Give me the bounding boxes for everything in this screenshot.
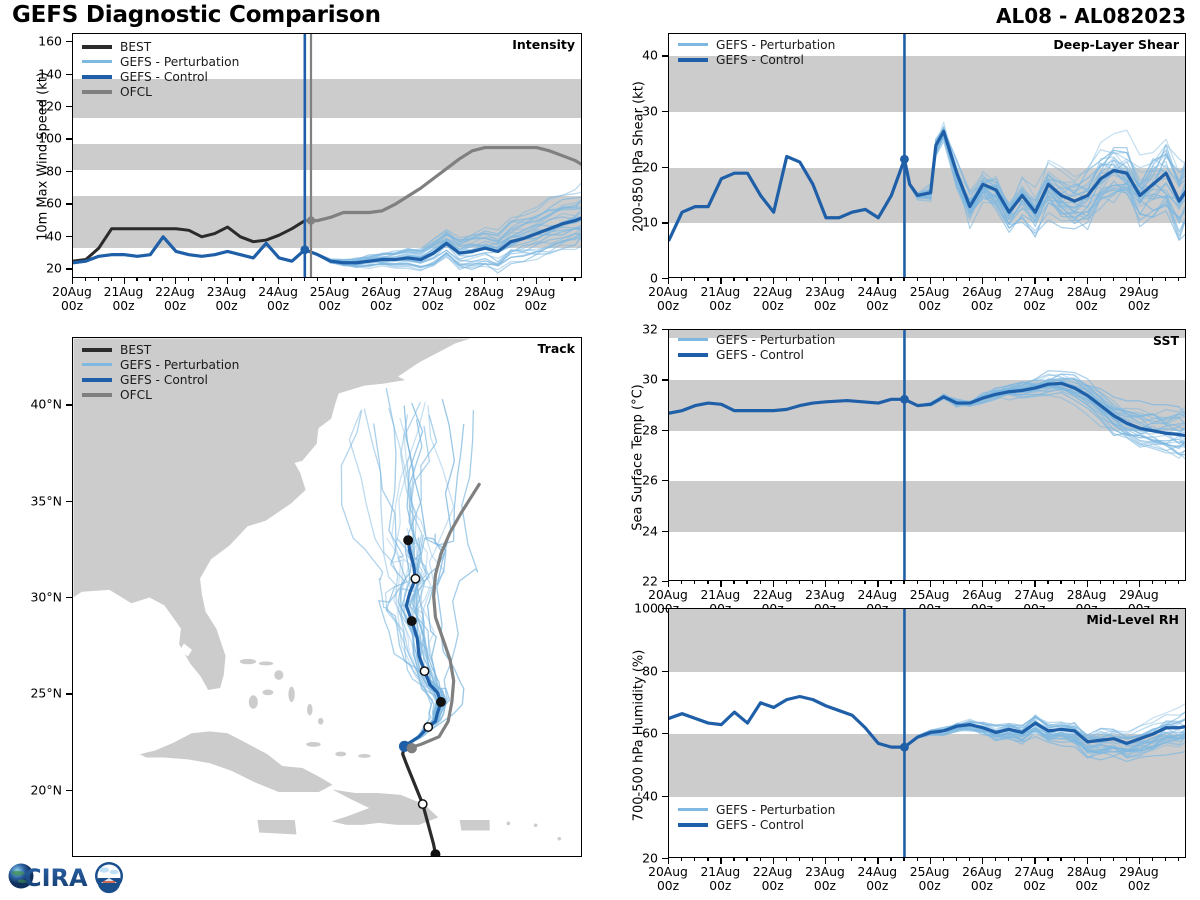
y-tick-mark (66, 106, 73, 107)
x-tick-minor (1008, 857, 1009, 861)
x-tick-minor (746, 580, 747, 584)
x-tick-mark (381, 277, 382, 284)
x-tick-minor (694, 277, 695, 281)
x-tick-mark (484, 277, 485, 284)
x-tick-minor (760, 580, 761, 584)
track-marker-open (424, 723, 432, 731)
x-tick-minor (1074, 277, 1075, 281)
ofcl-init-marker (307, 216, 315, 224)
x-tick-label: 29Aug00z (1119, 866, 1159, 894)
lat-tick-mark (66, 501, 73, 502)
track-title: Track (538, 341, 575, 356)
x-tick-minor (342, 277, 343, 281)
y-tick-mark (662, 531, 669, 532)
page-title: GEFS Diagnostic Comparison (12, 2, 381, 28)
x-tick-label: 20Aug00z (52, 286, 92, 314)
x-tick-minor (890, 580, 891, 584)
x-tick-minor (136, 277, 137, 281)
x-tick-minor (943, 857, 944, 861)
x-tick-minor (917, 857, 918, 861)
x-tick-minor (1126, 580, 1127, 584)
x-tick-minor (1165, 580, 1166, 584)
y-tick-label: 80 (606, 663, 658, 678)
y-tick-label: 40 (10, 228, 62, 243)
y-tick-label: 10 (606, 215, 658, 230)
x-tick-minor (1008, 580, 1009, 584)
x-tick-mark (1087, 857, 1088, 864)
x-tick-minor (864, 857, 865, 861)
x-tick-mark (930, 857, 931, 864)
storm-identifier: AL08 - AL082023 (996, 4, 1186, 28)
x-tick-minor (1100, 857, 1101, 861)
x-tick-minor (291, 277, 292, 281)
x-tick-minor (1178, 580, 1179, 584)
x-tick-minor (188, 277, 189, 281)
x-tick-minor (1178, 857, 1179, 861)
x-tick-label: 24Aug00z (857, 866, 897, 894)
y-tick-label: 40 (606, 788, 658, 803)
x-tick-mark (668, 857, 669, 864)
y-tick-label: 100 (606, 601, 658, 616)
y-tick-mark (662, 671, 669, 672)
x-tick-minor (799, 277, 800, 281)
y-tick-label: 20 (10, 261, 62, 276)
legend-label-best: BEST (120, 40, 151, 54)
x-tick-label: 25Aug00z (910, 866, 950, 894)
shear-plot-area (668, 33, 1186, 278)
x-tick-mark (720, 580, 721, 587)
figure-root: GEFS Diagnostic Comparison AL08 - AL0820… (0, 0, 1200, 900)
rh-legend: GEFS - Perturbation GEFS - Control (678, 802, 835, 832)
x-tick-label: 20Aug00z (648, 866, 688, 894)
x-tick-minor (368, 277, 369, 281)
x-tick-label: 26Aug00z (962, 286, 1002, 314)
x-tick-minor (1178, 277, 1179, 281)
y-tick-label: 120 (10, 99, 62, 114)
x-tick-minor (1008, 277, 1009, 281)
x-tick-minor (85, 277, 86, 281)
x-tick-minor (214, 277, 215, 281)
x-tick-minor (239, 277, 240, 281)
x-tick-minor (1074, 857, 1075, 861)
x-tick-minor (394, 277, 395, 281)
x-tick-minor (956, 857, 957, 861)
track-marker-open (411, 575, 419, 583)
x-tick-minor (98, 277, 99, 281)
x-tick-minor (746, 277, 747, 281)
x-tick-mark (773, 857, 774, 864)
x-tick-minor (201, 277, 202, 281)
x-tick-minor (1047, 580, 1048, 584)
y-tick-label: 30 (606, 103, 658, 118)
lat-tick-label: 20°N (10, 782, 62, 797)
y-tick-mark (662, 796, 669, 797)
x-tick-label: 21Aug00z (700, 286, 740, 314)
init-marker (900, 155, 909, 164)
x-tick-mark (930, 580, 931, 587)
x-tick-minor (799, 580, 800, 584)
x-tick-minor (786, 277, 787, 281)
legend-swatch-perturbation (678, 808, 708, 812)
lat-tick-mark (66, 790, 73, 791)
x-tick-minor (838, 857, 839, 861)
x-tick-mark (825, 277, 826, 284)
x-tick-minor (917, 580, 918, 584)
x-tick-minor (890, 277, 891, 281)
rh-title: Mid-Level RH (1086, 612, 1179, 627)
legend-swatch-best (82, 45, 112, 49)
x-tick-label: 22Aug00z (753, 286, 793, 314)
x-tick-label: 26Aug00z (962, 866, 1002, 894)
panel-intensity: Intensity BEST GEFS - Perturbation GEFS … (72, 33, 582, 278)
x-tick-minor (890, 857, 891, 861)
legend-label-control: GEFS - Control (716, 348, 804, 362)
x-tick-minor (1126, 277, 1127, 281)
x-tick-minor (903, 277, 904, 281)
x-tick-label: 21Aug00z (700, 866, 740, 894)
x-tick-minor (561, 277, 562, 281)
track-marker-filled (404, 536, 412, 544)
x-tick-minor (1126, 857, 1127, 861)
x-tick-minor (943, 580, 944, 584)
x-tick-minor (786, 857, 787, 861)
track-marker-filled (408, 617, 416, 625)
x-tick-minor (1152, 580, 1153, 584)
x-tick-mark (72, 277, 73, 284)
track-legend: BEST GEFS - Perturbation GEFS - Control … (82, 342, 239, 402)
x-tick-minor (838, 580, 839, 584)
best-track (403, 746, 436, 854)
x-tick-minor (956, 580, 957, 584)
x-tick-minor (681, 277, 682, 281)
sst-legend: GEFS - Perturbation GEFS - Control (678, 332, 835, 362)
x-tick-mark (825, 580, 826, 587)
x-tick-minor (681, 580, 682, 584)
x-tick-mark (1087, 580, 1088, 587)
y-tick-label: 28 (606, 422, 658, 437)
perturbation-track (349, 411, 438, 746)
y-tick-label: 140 (10, 66, 62, 81)
x-tick-minor (149, 277, 150, 281)
x-tick-minor (549, 277, 550, 281)
x-tick-label: 23Aug00z (207, 286, 247, 314)
y-tick-mark (662, 480, 669, 481)
track-marker-filled (437, 698, 445, 706)
x-tick-minor (812, 857, 813, 861)
x-tick-minor (681, 857, 682, 861)
legend-swatch-perturbation (678, 338, 708, 342)
x-tick-minor (1021, 580, 1022, 584)
lat-tick-label: 25°N (10, 686, 62, 701)
y-tick-mark (662, 329, 669, 330)
x-tick-minor (574, 277, 575, 281)
y-tick-label: 100 (10, 131, 62, 146)
x-tick-label: 27Aug00z (413, 286, 453, 314)
x-tick-minor (510, 277, 511, 281)
y-tick-mark (662, 733, 669, 734)
legend-swatch-ofcl (82, 90, 112, 94)
x-tick-label: 29Aug00z (516, 286, 556, 314)
y-tick-label: 24 (606, 523, 658, 538)
x-tick-minor (995, 857, 996, 861)
y-tick-mark (662, 608, 669, 609)
x-tick-minor (1047, 277, 1048, 281)
x-tick-minor (1021, 277, 1022, 281)
x-tick-minor (1060, 277, 1061, 281)
y-tick-mark (66, 236, 73, 237)
panel-shear: Deep-Layer Shear GEFS - Perturbation GEF… (668, 33, 1186, 278)
legend-swatch-control (678, 353, 708, 357)
panel-rh: Mid-Level RH GEFS - Perturbation GEFS - … (668, 608, 1186, 858)
x-tick-minor (969, 277, 970, 281)
x-tick-mark (982, 580, 983, 587)
x-tick-minor (733, 277, 734, 281)
x-tick-minor (956, 277, 957, 281)
y-tick-label: 20 (606, 159, 658, 174)
y-tick-label: 0 (606, 271, 658, 286)
y-tick-mark (662, 379, 669, 380)
lat-tick-label: 35°N (10, 493, 62, 508)
sst-series (669, 330, 1186, 581)
y-tick-label: 160 (10, 34, 62, 49)
x-tick-minor (1152, 857, 1153, 861)
series-ofcl (307, 148, 582, 221)
x-tick-mark (175, 277, 176, 284)
legend-label-control: GEFS - Control (716, 818, 804, 832)
x-tick-label: 27Aug00z (1014, 866, 1054, 894)
x-tick-minor (1165, 857, 1166, 861)
legend-swatch-ofcl (82, 393, 112, 397)
lat-tick-mark (66, 597, 73, 598)
x-tick-minor (471, 277, 472, 281)
x-tick-label: 22Aug00z (155, 286, 195, 314)
legend-label-control: GEFS - Control (120, 373, 208, 387)
x-tick-minor (407, 277, 408, 281)
y-tick-mark (66, 138, 73, 139)
legend-swatch-perturbation (82, 363, 112, 367)
x-tick-minor (943, 277, 944, 281)
track-plot-area (72, 337, 582, 857)
x-tick-minor (851, 277, 852, 281)
x-tick-mark (668, 277, 669, 284)
x-tick-minor (969, 580, 970, 584)
x-tick-minor (903, 580, 904, 584)
legend-label-perturbation: GEFS - Perturbation (120, 358, 239, 372)
x-tick-label: 29Aug00z (1119, 286, 1159, 314)
lat-tick-label: 30°N (10, 590, 62, 605)
lat-tick-label: 40°N (10, 397, 62, 412)
x-tick-mark (433, 277, 434, 284)
x-tick-minor (317, 277, 318, 281)
lat-tick-mark (66, 693, 73, 694)
x-tick-minor (812, 277, 813, 281)
init-marker (900, 743, 909, 752)
x-tick-mark (536, 277, 537, 284)
x-tick-label: 28Aug00z (1067, 286, 1107, 314)
x-tick-minor (707, 277, 708, 281)
best-track-marker (431, 850, 439, 857)
y-tick-label: 30 (606, 372, 658, 387)
x-tick-minor (252, 277, 253, 281)
svg-text:CIRA: CIRA (24, 864, 88, 892)
intensity-legend: BEST GEFS - Perturbation GEFS - Control … (82, 39, 239, 99)
x-tick-minor (1113, 857, 1114, 861)
sst-plot-area (668, 329, 1186, 581)
legend-swatch-control (82, 378, 112, 382)
panel-sst: SST GEFS - Perturbation GEFS - Control (668, 329, 1186, 581)
series-gefs-control (669, 697, 1186, 748)
x-tick-label: 24Aug00z (857, 286, 897, 314)
x-tick-mark (877, 857, 878, 864)
x-tick-minor (1060, 580, 1061, 584)
legend-label-ofcl: OFCL (120, 85, 152, 99)
x-tick-minor (1074, 580, 1075, 584)
x-tick-label: 21Aug00z (104, 286, 144, 314)
x-tick-minor (864, 277, 865, 281)
x-tick-label: 26Aug00z (361, 286, 401, 314)
x-tick-minor (304, 277, 305, 281)
x-tick-mark (720, 277, 721, 284)
track-marker-open (420, 667, 428, 675)
x-tick-mark (773, 580, 774, 587)
x-tick-minor (1047, 857, 1048, 861)
legend-swatch-perturbation (678, 43, 708, 47)
y-tick-label: 60 (10, 196, 62, 211)
y-tick-mark (66, 203, 73, 204)
legend-label-control: GEFS - Control (716, 53, 804, 67)
x-tick-minor (903, 857, 904, 861)
cira-logo: CIRA (6, 856, 126, 896)
x-tick-minor (760, 277, 761, 281)
x-tick-minor (799, 857, 800, 861)
legend-label-ofcl: OFCL (120, 388, 152, 402)
x-tick-label: 22Aug00z (753, 866, 793, 894)
x-tick-minor (786, 580, 787, 584)
x-tick-minor (864, 580, 865, 584)
x-tick-minor (995, 277, 996, 281)
x-tick-minor (917, 277, 918, 281)
x-tick-label: 23Aug00z (805, 286, 845, 314)
ofcl-init-marker (407, 743, 417, 753)
x-tick-minor (707, 857, 708, 861)
x-tick-minor (1060, 857, 1061, 861)
x-tick-minor (445, 277, 446, 281)
y-tick-mark (66, 171, 73, 172)
x-tick-minor (746, 857, 747, 861)
shear-ylabel: 200-850 hPa Shear (kt) (632, 47, 647, 267)
x-tick-minor (812, 580, 813, 584)
legend-label-control: GEFS - Control (120, 70, 208, 84)
legend-swatch-control (82, 75, 112, 79)
x-tick-mark (877, 580, 878, 587)
x-tick-mark (982, 857, 983, 864)
y-tick-mark (662, 55, 669, 56)
init-marker (900, 395, 909, 404)
x-tick-minor (851, 580, 852, 584)
legend-swatch-perturbation (82, 60, 112, 64)
y-tick-label: 60 (606, 726, 658, 741)
x-tick-mark (227, 277, 228, 284)
x-tick-mark (668, 580, 669, 587)
legend-label-perturbation: GEFS - Perturbation (120, 55, 239, 69)
y-tick-mark (662, 111, 669, 112)
x-tick-minor (733, 857, 734, 861)
shear-legend: GEFS - Perturbation GEFS - Control (678, 37, 835, 67)
x-tick-label: 27Aug00z (1014, 286, 1054, 314)
x-tick-mark (1087, 277, 1088, 284)
x-tick-minor (497, 277, 498, 281)
x-tick-minor (1113, 580, 1114, 584)
y-tick-label: 40 (606, 48, 658, 63)
y-tick-label: 26 (606, 473, 658, 488)
legend-label-perturbation: GEFS - Perturbation (716, 38, 835, 52)
y-tick-mark (662, 430, 669, 431)
x-tick-minor (265, 277, 266, 281)
legend-label-perturbation: GEFS - Perturbation (716, 803, 835, 817)
legend-swatch-control (678, 58, 708, 62)
x-tick-minor (162, 277, 163, 281)
x-tick-mark (720, 857, 721, 864)
x-tick-mark (1034, 277, 1035, 284)
x-tick-minor (1113, 277, 1114, 281)
shear-series (669, 34, 1186, 278)
x-tick-label: 28Aug00z (1067, 866, 1107, 894)
x-tick-mark (1139, 277, 1140, 284)
x-tick-mark (877, 277, 878, 284)
y-tick-label: 80 (10, 163, 62, 178)
x-tick-minor (694, 580, 695, 584)
y-tick-mark (662, 167, 669, 168)
x-tick-minor (838, 277, 839, 281)
x-tick-mark (982, 277, 983, 284)
x-tick-label: 20Aug00z (648, 286, 688, 314)
y-tick-mark (66, 268, 73, 269)
x-tick-minor (733, 580, 734, 584)
x-tick-minor (1152, 277, 1153, 281)
intensity-title: Intensity (512, 37, 575, 52)
lat-tick-mark (66, 404, 73, 405)
x-tick-minor (420, 277, 421, 281)
x-tick-minor (760, 857, 761, 861)
x-tick-mark (1034, 857, 1035, 864)
x-tick-minor (1100, 277, 1101, 281)
x-tick-mark (1139, 857, 1140, 864)
x-tick-minor (969, 857, 970, 861)
panel-track: Track BEST GEFS - Perturbation GEFS - Co… (72, 337, 582, 857)
x-tick-minor (1100, 580, 1101, 584)
y-tick-mark (662, 222, 669, 223)
x-tick-mark (773, 277, 774, 284)
legend-swatch-control (678, 823, 708, 827)
x-tick-mark (1139, 580, 1140, 587)
y-tick-label: 20 (606, 851, 658, 866)
legend-label-perturbation: GEFS - Perturbation (716, 333, 835, 347)
track-series (73, 338, 582, 857)
x-tick-minor (995, 580, 996, 584)
x-tick-minor (694, 857, 695, 861)
x-tick-label: 24Aug00z (258, 286, 298, 314)
x-tick-mark (278, 277, 279, 284)
x-tick-label: 23Aug00z (805, 866, 845, 894)
x-tick-mark (825, 857, 826, 864)
x-tick-minor (1165, 277, 1166, 281)
init-marker (300, 245, 309, 254)
x-tick-minor (851, 857, 852, 861)
legend-label-best: BEST (120, 343, 151, 357)
y-tick-mark (66, 74, 73, 75)
x-tick-minor (523, 277, 524, 281)
x-tick-minor (458, 277, 459, 281)
